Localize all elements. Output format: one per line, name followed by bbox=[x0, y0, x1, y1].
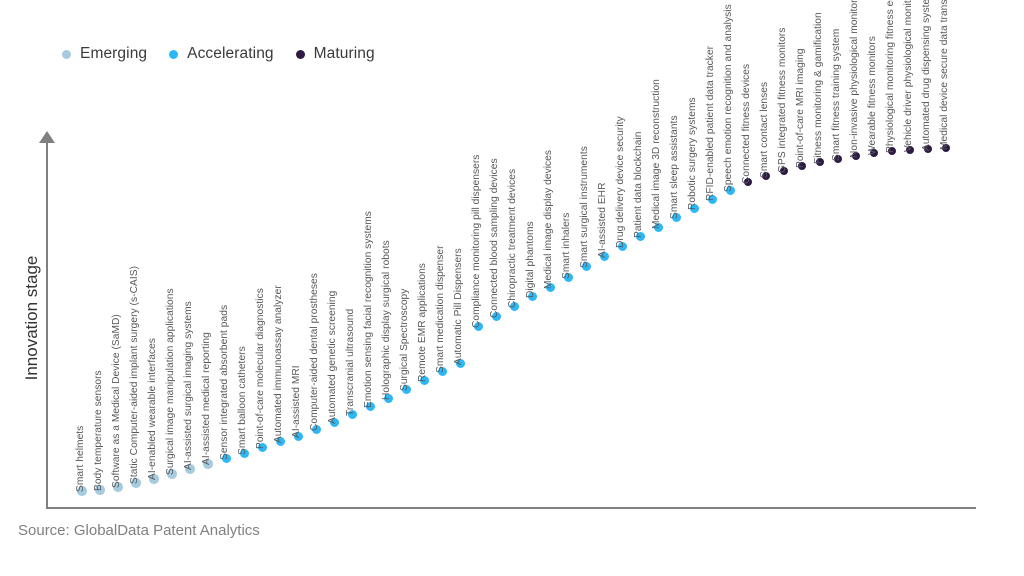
data-point-label: Wearable fitness monitors bbox=[867, 36, 878, 155]
data-point-label: Connected fitness devices bbox=[741, 64, 752, 184]
data-point-label: Non-invasive physiological monitoring bbox=[849, 0, 860, 158]
data-point-label: RFID-enabled patient data tracker bbox=[705, 45, 716, 200]
data-point-label: Automated immunoassay analyzer bbox=[273, 285, 284, 443]
data-point-label: Smart medication dispenser bbox=[435, 245, 446, 373]
scatter-plot-area: Smart helmetsBody temperature sensorsSof… bbox=[0, 0, 1024, 576]
data-point-label: Body temperature sensors bbox=[93, 371, 104, 492]
data-point-label: Medical image 3D reconstruction bbox=[651, 79, 662, 229]
chart-root: EmergingAcceleratingMaturing Innovation … bbox=[0, 0, 1024, 576]
data-point-label: AI-assisted EHR bbox=[597, 182, 608, 257]
data-point-label: Smart sleep assistants bbox=[669, 115, 680, 219]
source-note: Source: GlobalData Patent Analytics bbox=[18, 522, 260, 539]
data-point-label: Robotic surgery systems bbox=[687, 97, 698, 210]
data-point-label: Fitness monitoring & gamification bbox=[813, 12, 824, 164]
data-point-label: AI-assisted medical reporting bbox=[201, 332, 212, 465]
data-point-label: Software as a Medical Device (SaMD) bbox=[111, 314, 122, 488]
data-point-label: Compliance monitoring pill dispensers bbox=[471, 154, 482, 327]
data-point-label: Medical image display devices bbox=[543, 149, 554, 288]
data-point-label: GPS integrated fitness monitors bbox=[777, 27, 788, 172]
data-point-label: Smart helmets bbox=[75, 426, 86, 492]
data-point-label: Automated drug dispensing systems bbox=[921, 0, 932, 151]
data-point-label: Physiological monitoring fitness equipme… bbox=[885, 0, 896, 153]
data-point-label: AI-enabled wearable interfaces bbox=[147, 338, 158, 480]
data-point-label: Connected blood sampling devices bbox=[489, 158, 500, 318]
data-point-label: Point-of-care MRI imaging bbox=[795, 48, 806, 168]
data-point-label: Chiropractic treatment devices bbox=[507, 168, 518, 307]
data-point-label: AI-assisted surgical imaging systems bbox=[183, 301, 194, 470]
data-point-label: Digital phantoms bbox=[525, 221, 536, 298]
data-point-label: Smart contact lenses bbox=[759, 82, 770, 178]
data-point-label: Drug delivery device security bbox=[615, 116, 626, 248]
data-point-label: Sensor integrated absorbent pads bbox=[219, 304, 230, 459]
data-point-label: Smart inhalers bbox=[561, 212, 572, 278]
data-point-label: Surgical Spectroscopy bbox=[399, 288, 410, 390]
data-point-label: Point-of-care molecular diagnostics bbox=[255, 288, 266, 449]
data-point-label: Transcranial ultrasound bbox=[345, 308, 356, 415]
data-point-label: Remote EMR applications bbox=[417, 263, 428, 382]
data-point-label: Computer-aided dental prostheses bbox=[309, 273, 320, 431]
data-point-label: Patient data blockchain bbox=[633, 131, 644, 238]
data-point-label: Medical device secure data transmission bbox=[939, 0, 950, 150]
data-point-label: Holographic display surgical robots bbox=[381, 240, 392, 400]
data-point-label: Smart surgical instruments bbox=[579, 146, 590, 268]
data-point-label: AI-assisted MRI bbox=[291, 365, 302, 438]
data-point-label: Smart balloon catheters bbox=[237, 346, 248, 455]
data-point-label: Vehicle driver physiological monitoring bbox=[903, 0, 914, 152]
data-point-label: Smart fitness training system bbox=[831, 29, 842, 161]
data-point-label: Speech emotion recognition and analysis bbox=[723, 4, 734, 192]
data-point-label: Automatic Pill Dispensers bbox=[453, 248, 464, 365]
data-point-label: Automated genetic screening bbox=[327, 290, 338, 423]
data-point-label: Static Computer-aided implant surgery (s… bbox=[129, 266, 140, 484]
data-point-label: Emotion sensing facial recognition syste… bbox=[363, 211, 374, 408]
data-point-label: Surgical image manipulation applications bbox=[165, 289, 176, 476]
